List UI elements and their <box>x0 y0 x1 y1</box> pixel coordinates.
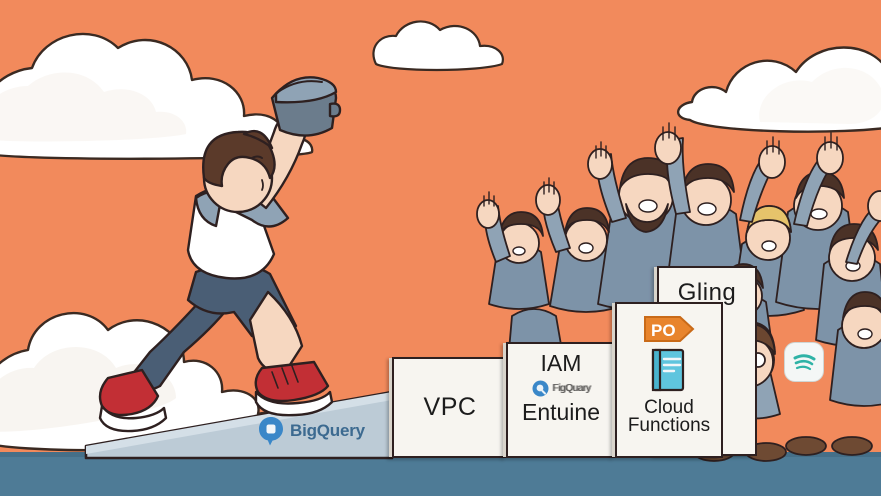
blue-book-icon <box>648 346 690 394</box>
illustration-canvas: BigQuery <box>0 0 881 496</box>
po-badge-icon: PO <box>642 314 696 344</box>
gray-trophy-box <box>272 77 340 135</box>
right-shoe <box>256 362 332 415</box>
card-cloud-functions-line2: Functions <box>628 416 710 435</box>
card-vpc-label: VPC <box>424 394 477 421</box>
card-iam-title: IAM <box>541 350 582 377</box>
card-iam-bottom: Entuine <box>522 399 600 426</box>
spotify-glyph <box>791 349 817 375</box>
card-iam-sublabel: FigQuary <box>553 383 591 394</box>
svg-text:PO: PO <box>651 321 676 340</box>
card-iam[interactable]: IAM FigQuary Entuine <box>506 342 616 458</box>
blue-circle-avatar-icon <box>532 380 549 397</box>
card-iam-sublogo: FigQuary <box>532 380 591 397</box>
card-cloud-functions[interactable]: PO Cloud Functions <box>615 302 723 458</box>
card-vpc[interactable]: VPC <box>392 357 508 458</box>
spotify-wave-icon <box>784 342 824 382</box>
